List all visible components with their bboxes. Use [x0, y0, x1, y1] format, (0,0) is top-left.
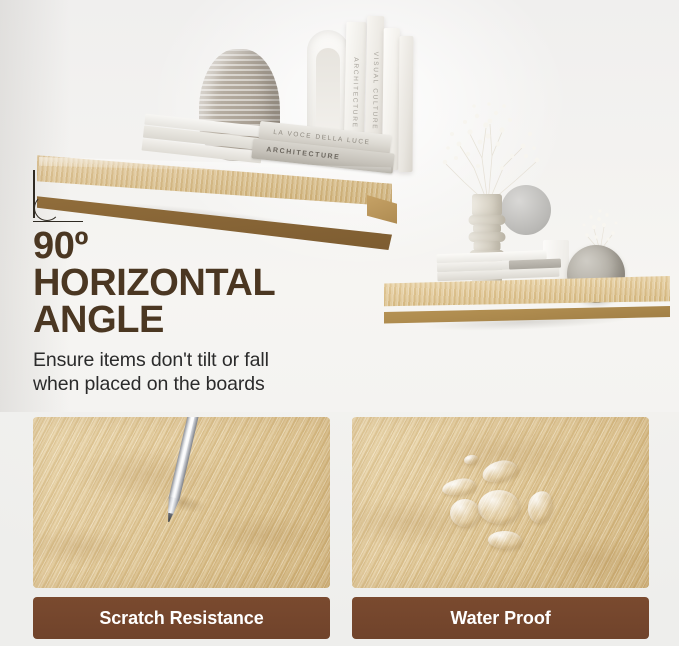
vertical-book-label: ARCHITECTURE [351, 57, 359, 128]
dried-flowers-icon [572, 205, 628, 251]
water-droplet [526, 490, 553, 524]
water-droplet [463, 454, 478, 465]
feature-panel-water-proof: Water Proof [352, 417, 649, 639]
water-droplet [487, 530, 522, 550]
feature-panel-scratch-resistance: Scratch Resistance [33, 417, 330, 639]
product-feature-image: ARCHITECTURE VISUAL CULTURE LA VOCE DELL… [0, 0, 679, 646]
water-proof-image [352, 417, 649, 588]
lower-shelf [384, 276, 670, 326]
right-angle-icon [33, 170, 85, 222]
vertical-book [399, 36, 414, 172]
scratch-resistance-image [33, 417, 330, 588]
headline-line-3: ANGLE [33, 302, 373, 339]
headline-line-1: 90º [33, 228, 373, 265]
vertical-book-label: VISUAL CULTURE [370, 52, 378, 131]
screwdriver-icon [151, 417, 210, 531]
caption-bar-scratch-resistance: Scratch Resistance [33, 597, 330, 639]
caption-bar-water-proof: Water Proof [352, 597, 649, 639]
subtitle-line-1: Ensure items don't tilt or fall [33, 348, 373, 372]
caption-label: Water Proof [450, 608, 550, 629]
caption-label: Scratch Resistance [99, 608, 263, 629]
headline-line-2: HORIZONTAL [33, 265, 373, 302]
water-droplet [480, 457, 519, 484]
water-droplet [478, 490, 520, 524]
water-droplet [441, 477, 477, 498]
headline-block: 90º HORIZONTAL ANGLE Ensure items don't … [33, 228, 373, 396]
water-droplet [450, 499, 480, 527]
subtitle-line-2: when placed on the boards [33, 372, 373, 396]
